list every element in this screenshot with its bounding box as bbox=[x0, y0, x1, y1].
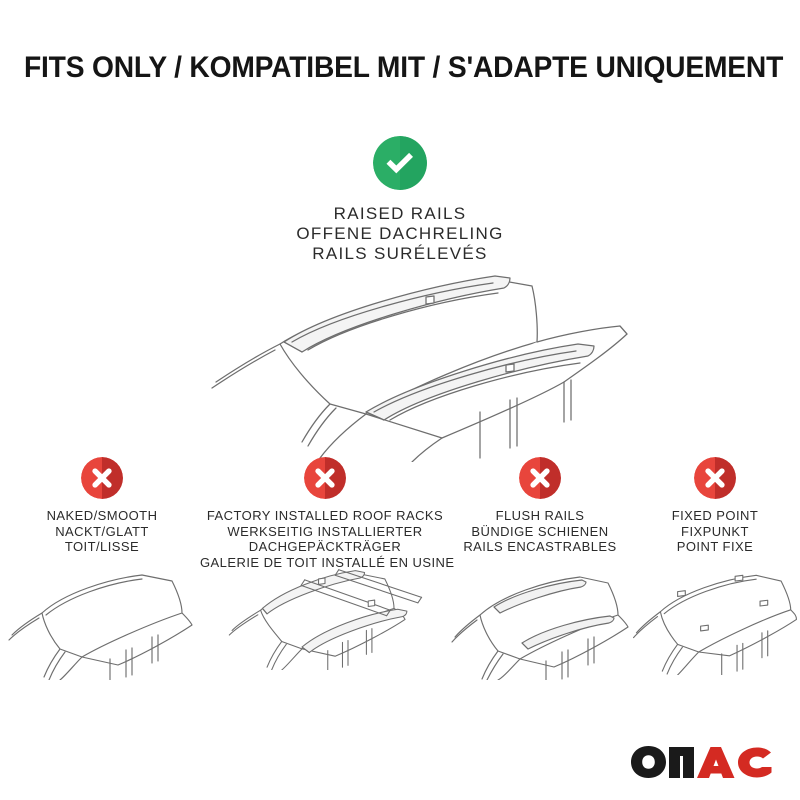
fixed-point-svg bbox=[630, 560, 800, 675]
omac-logo-red-part bbox=[697, 747, 772, 778]
denied-labels-0: NAKED/SMOOTH NACKT/GLATT TOIT/LISSE bbox=[2, 508, 202, 555]
car-roof-naked-smooth-illustration bbox=[2, 565, 202, 680]
car-roof-flush-rails-illustration bbox=[450, 565, 630, 680]
x-circle-svg bbox=[81, 457, 123, 499]
omac-logo bbox=[628, 742, 778, 782]
denied-column-flush-rails: FLUSH RAILS BÜNDIGE SCHIENEN RAILS ENCAS… bbox=[450, 445, 630, 695]
denied-2-label-line-1: FLUSH RAILS bbox=[450, 508, 630, 524]
denied-1-label-line-1: FACTORY INSTALLED ROOF RACKS bbox=[200, 508, 450, 524]
x-circle-icon bbox=[519, 457, 561, 499]
check-circle-svg bbox=[373, 136, 427, 190]
denied-labels-2: FLUSH RAILS BÜNDIGE SCHIENEN RAILS ENCAS… bbox=[450, 508, 630, 555]
denied-column-fixed-point: FIXED POINT FIXPUNKT POINT FIXE bbox=[630, 445, 800, 695]
page-title: FITS ONLY / KOMPATIBEL MIT / S'ADAPTE UN… bbox=[24, 52, 776, 84]
approved-label-line-2: OFFENE DACHRELING bbox=[0, 224, 800, 244]
naked-smooth-svg bbox=[2, 565, 202, 680]
denied-column-naked-smooth: NAKED/SMOOTH NACKT/GLATT TOIT/LISSE bbox=[2, 445, 202, 695]
approved-section: RAISED RAILS OFFENE DACHRELING RAILS SUR… bbox=[0, 96, 800, 264]
omac-logo-dark-part bbox=[631, 746, 694, 778]
car-roof-factory-installed-roof-racks-illustration bbox=[200, 555, 450, 670]
check-circle-icon bbox=[373, 136, 427, 190]
denied-0-label-line-1: NAKED/SMOOTH bbox=[2, 508, 202, 524]
denied-labels-3: FIXED POINT FIXPUNKT POINT FIXE bbox=[630, 508, 800, 555]
car-roof-fixed-point-illustration bbox=[630, 560, 800, 675]
flush-rails-svg bbox=[450, 565, 630, 680]
approved-label-line-1: RAISED RAILS bbox=[0, 204, 800, 224]
denied-2-label-line-3: RAILS ENCASTRABLES bbox=[450, 539, 630, 555]
denied-2-label-line-2: BÜNDIGE SCHIENEN bbox=[450, 524, 630, 540]
x-circle-svg bbox=[304, 457, 346, 499]
header: FITS ONLY / KOMPATIBEL MIT / S'ADAPTE UN… bbox=[0, 0, 800, 96]
denied-badge-wrap-3 bbox=[630, 445, 800, 499]
denied-badge-wrap-0 bbox=[2, 445, 202, 499]
approved-badge-wrap bbox=[0, 96, 800, 190]
denied-0-label-line-3: TOIT/LISSE bbox=[2, 539, 202, 555]
denied-3-label-line-3: POINT FIXE bbox=[630, 539, 800, 555]
omac-logo-svg bbox=[628, 742, 778, 782]
x-circle-icon bbox=[81, 457, 123, 499]
approved-label-line-3: RAILS SURÉLEVÉS bbox=[0, 244, 800, 264]
denied-1-label-line-3: DACHGEPÄCKTRÄGER bbox=[200, 539, 450, 555]
car-roof-with-raised-rails-illustration bbox=[180, 272, 635, 462]
denied-badge-wrap-2 bbox=[450, 445, 630, 499]
x-circle-icon bbox=[304, 457, 346, 499]
denied-3-label-line-1: FIXED POINT bbox=[630, 508, 800, 524]
denied-1-label-line-2: WERKSEITIG INSTALLIERTER bbox=[200, 524, 450, 540]
x-circle-svg bbox=[694, 457, 736, 499]
denied-section: NAKED/SMOOTH NACKT/GLATT TOIT/LISSE bbox=[0, 445, 800, 695]
denied-3-label-line-2: FIXPUNKT bbox=[630, 524, 800, 540]
approved-labels: RAISED RAILS OFFENE DACHRELING RAILS SUR… bbox=[0, 204, 800, 264]
raised-rails-svg bbox=[180, 272, 635, 462]
denied-badge-wrap-1 bbox=[200, 445, 450, 499]
x-circle-svg bbox=[519, 457, 561, 499]
denied-column-factory-roof-racks: FACTORY INSTALLED ROOF RACKS WERKSEITIG … bbox=[200, 445, 450, 695]
factory-roof-racks-svg bbox=[200, 555, 450, 670]
denied-0-label-line-2: NACKT/GLATT bbox=[2, 524, 202, 540]
x-circle-icon bbox=[694, 457, 736, 499]
